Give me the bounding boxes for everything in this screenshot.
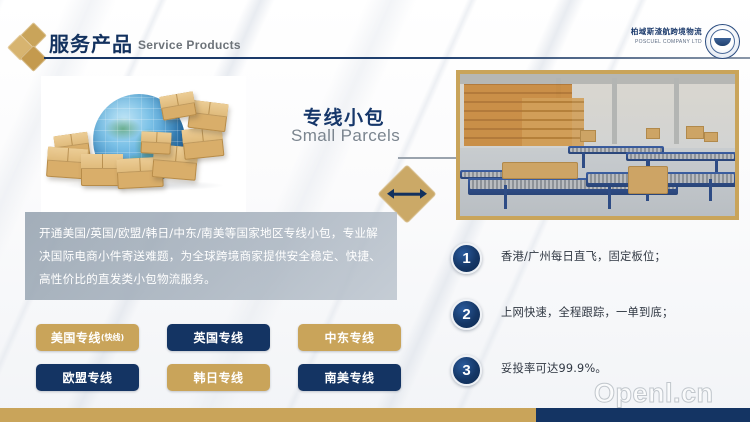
- footer-navy-segment: [536, 408, 750, 422]
- tag-middle-east-line[interactable]: 中东专线: [298, 324, 401, 351]
- connector-line: [398, 157, 456, 159]
- point-text: 香港/广州每日直飞，固定板位；: [501, 248, 666, 264]
- tag-row-1: 美国专线(快线) 英国专线 中东专线: [36, 324, 402, 351]
- company-logo-text: 柏域斯渣航跨境物流 POSCUEL COMPANY LTD: [631, 26, 702, 45]
- footer-gold-segment: [0, 408, 536, 422]
- list-item: 2 上网快速，全程跟踪，一单到底；: [451, 299, 746, 355]
- tag-label: 英国专线: [193, 329, 243, 346]
- globe-with-cardboard-boxes-image: [41, 76, 246, 213]
- description-panel: 开通美国/英国/欧盟/韩日/中东/南美等国家地区专线小包，专业解决国际电商小件寄…: [25, 212, 397, 300]
- slide-header: 服务产品 Service Products 柏域斯渣航跨境物流 POSCUEL …: [0, 0, 750, 72]
- tag-eu-line[interactable]: 欧盟专线: [36, 364, 139, 391]
- slide-canvas: 服务产品 Service Products 柏域斯渣航跨境物流 POSCUEL …: [0, 0, 750, 422]
- watermark: Openl.cn: [594, 378, 714, 409]
- page-title: 服务产品: [49, 28, 133, 57]
- tag-uk-line[interactable]: 英国专线: [167, 324, 270, 351]
- tag-korea-japan-line[interactable]: 韩日专线: [167, 364, 270, 391]
- tag-label: 中东专线: [324, 329, 374, 346]
- hero-title-en: Small Parcels: [291, 126, 400, 146]
- tag-suffix: (快线): [101, 332, 124, 343]
- company-name-en: POSCUEL COMPANY LTD: [631, 39, 702, 45]
- tag-label: 南美专线: [324, 369, 374, 386]
- point-text: 妥投率可达99.9%。: [501, 360, 607, 376]
- point-number-badge: 1: [451, 243, 482, 274]
- tag-label: 美国专线: [51, 329, 101, 346]
- footer-bar: [0, 408, 750, 422]
- tag-south-america-line[interactable]: 南美专线: [298, 364, 401, 391]
- page-subtitle: Service Products: [138, 38, 241, 52]
- point-text: 上网快速，全程跟踪，一单到底；: [501, 304, 673, 320]
- circular-ship-emblem-icon: [705, 24, 740, 59]
- company-logo: 柏域斯渣航跨境物流 POSCUEL COMPANY LTD: [594, 24, 742, 58]
- tag-us-line[interactable]: 美国专线(快线): [36, 324, 139, 351]
- tag-label: 欧盟专线: [62, 369, 112, 386]
- company-name-cn: 柏域斯渣航跨境物流: [631, 26, 702, 37]
- point-number-badge: 2: [451, 299, 482, 330]
- service-line-tags: 美国专线(快线) 英国专线 中东专线 欧盟专线 韩日专线 南美专线: [36, 324, 402, 404]
- list-item: 1 香港/广州每日直飞，固定板位；: [451, 243, 746, 299]
- tag-row-2: 欧盟专线 韩日专线 南美专线: [36, 364, 402, 391]
- point-number-badge: 3: [451, 355, 482, 386]
- warehouse-roller-conveyor-image: [456, 70, 739, 220]
- tag-label: 韩日专线: [193, 369, 243, 386]
